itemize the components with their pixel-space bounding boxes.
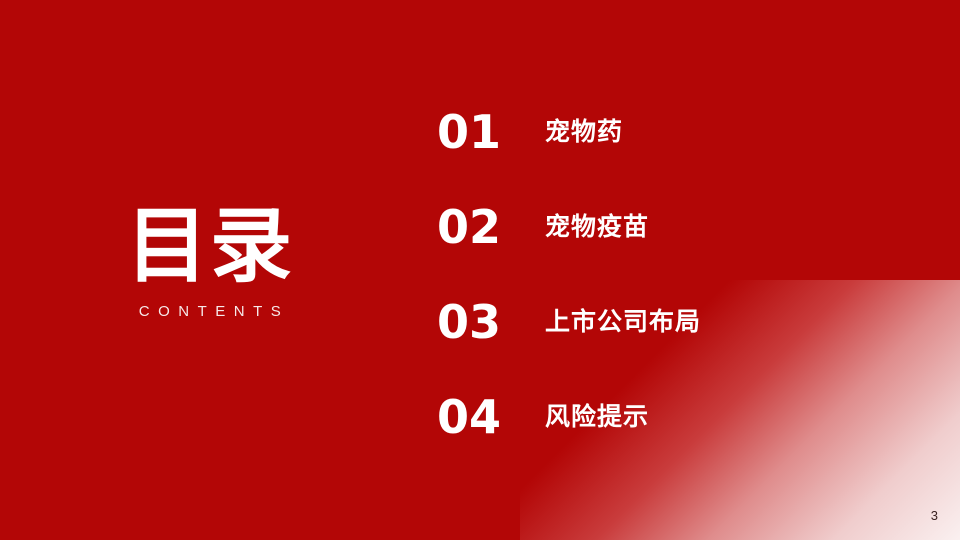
slide-root: 目录 CONTENTS 01 宠物药 02 宠物疫苗 03 上市公司布局 04 … bbox=[0, 0, 960, 540]
page-title: 目录 bbox=[0, 206, 420, 288]
contents-item-01[interactable]: 01 宠物药 bbox=[437, 84, 907, 179]
contents-item-number: 01 bbox=[437, 109, 545, 155]
contents-item-03[interactable]: 03 上市公司布局 bbox=[437, 274, 907, 369]
heading-block: 目录 CONTENTS bbox=[0, 206, 420, 319]
page-subtitle: CONTENTS bbox=[0, 304, 420, 319]
contents-item-number: 04 bbox=[437, 394, 545, 440]
contents-item-04[interactable]: 04 风险提示 bbox=[437, 369, 907, 464]
contents-item-number: 03 bbox=[437, 299, 545, 345]
contents-item-label: 上市公司布局 bbox=[545, 309, 701, 334]
contents-item-label: 宠物药 bbox=[545, 119, 623, 144]
contents-item-02[interactable]: 02 宠物疫苗 bbox=[437, 179, 907, 274]
contents-list: 01 宠物药 02 宠物疫苗 03 上市公司布局 04 风险提示 bbox=[437, 84, 907, 464]
contents-item-label: 宠物疫苗 bbox=[545, 214, 649, 239]
contents-item-number: 02 bbox=[437, 204, 545, 250]
page-number: 3 bbox=[931, 509, 938, 522]
contents-item-label: 风险提示 bbox=[545, 404, 649, 429]
